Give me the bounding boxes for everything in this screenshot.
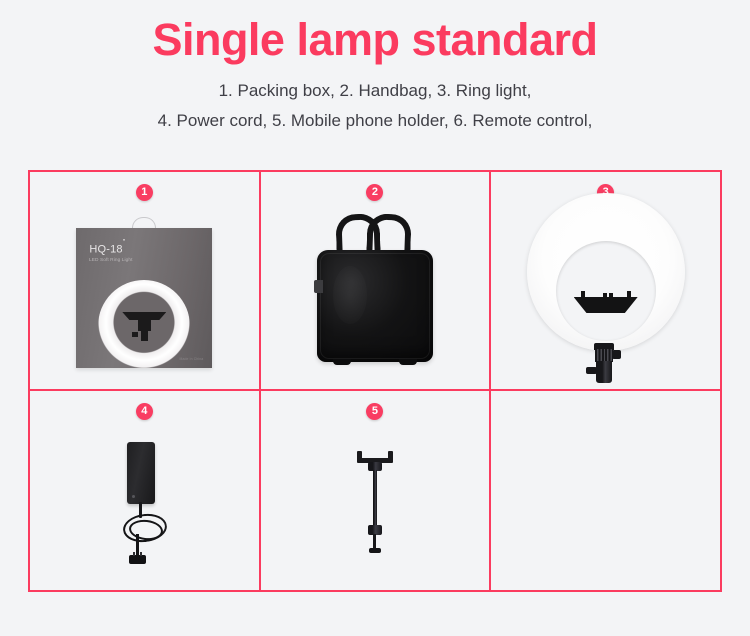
- subtitle-line-2: 4. Power cord, 5. Mobile phone holder, 6…: [0, 106, 750, 136]
- handbag-body: [317, 250, 433, 362]
- grid-cell-empty: [491, 391, 722, 592]
- badge-1: 1: [136, 184, 153, 201]
- badge-2: 2: [366, 184, 383, 201]
- ring-light-mount-bracket: [583, 343, 629, 389]
- handbag-illustration: [261, 201, 490, 389]
- power-plug-pin-right: [140, 552, 142, 556]
- power-adapter-brick: [127, 442, 155, 504]
- grid-cell-phone-holder[interactable]: 5: [261, 391, 492, 592]
- grid-cell-packing-box[interactable]: 1 HQ-18" LED Soft Ring Light Made in Chi…: [30, 172, 261, 391]
- box-body: HQ-18" LED Soft Ring Light Made in China: [76, 228, 212, 368]
- grid-cell-ring-light[interactable]: 3: [491, 172, 722, 391]
- packing-box-illustration: HQ-18" LED Soft Ring Light Made in China: [30, 201, 259, 389]
- handbag-foot-left: [333, 359, 351, 365]
- box-subtitle: LED Soft Ring Light: [89, 257, 133, 263]
- handbag-foot-right: [399, 359, 417, 365]
- subtitle-line-1: 1. Packing box, 2. Handbag, 3. Ring ligh…: [0, 76, 750, 106]
- box-title: HQ-18": [89, 243, 125, 256]
- handbag-handle-right: [366, 213, 411, 255]
- phone-holder-illustration: [261, 420, 490, 590]
- handbag-highlight: [333, 266, 367, 324]
- page-title: Single lamp standard: [0, 14, 750, 66]
- product-grid: 1 HQ-18" LED Soft Ring Light Made in Chi…: [28, 170, 722, 592]
- power-plug: [129, 555, 146, 564]
- box-printed-mount: [132, 320, 156, 342]
- phone-holder-upper-rod: [373, 470, 377, 532]
- power-cord-illustration: [30, 420, 259, 590]
- box-fineprint: Made in China: [180, 357, 204, 361]
- ring-light-illustration: [491, 201, 720, 389]
- power-adapter-led-icon: [132, 495, 135, 498]
- box-printed-control-bar: [122, 312, 166, 320]
- header: Single lamp standard 1. Packing box, 2. …: [0, 0, 750, 135]
- box-title-inch-mark: ": [123, 239, 126, 246]
- handbag-zipper-icon: [314, 280, 323, 293]
- grid-cell-handbag[interactable]: 2: [261, 172, 492, 391]
- phone-holder-foot: [369, 548, 381, 553]
- grid-cell-power-cord[interactable]: 4: [30, 391, 261, 592]
- subtitle-block: 1. Packing box, 2. Handbag, 3. Ring ligh…: [0, 76, 750, 136]
- badge-4: 4: [136, 403, 153, 420]
- badge-5: 5: [366, 403, 383, 420]
- power-plug-pin-left: [133, 552, 135, 556]
